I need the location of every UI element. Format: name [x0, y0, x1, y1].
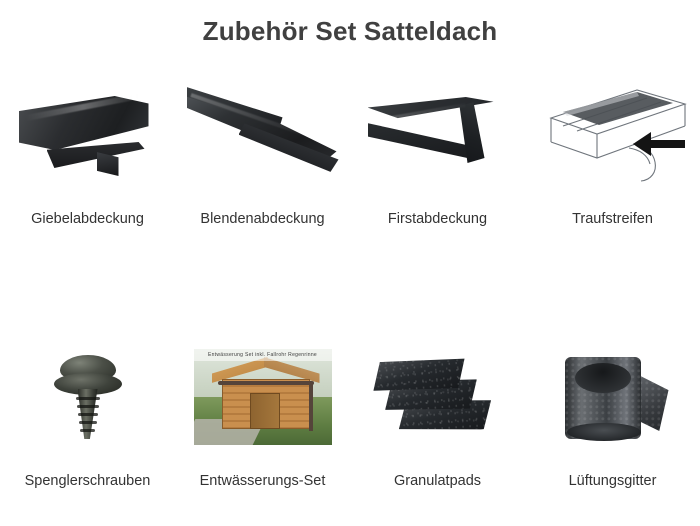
accessory-row-2: Spenglerschrauben Entwässerun	[0, 336, 700, 526]
accessory-item-blendenabdeckung[interactable]: Blendenabdeckung	[175, 74, 350, 264]
accessory-item-lueftungsgitter[interactable]: Lüftungsgitter	[525, 336, 700, 526]
accessory-caption: Entwässerungs-Set	[200, 474, 326, 490]
accessory-caption: Lüftungsgitter	[569, 474, 657, 490]
accessory-caption: Traufstreifen	[572, 212, 653, 228]
eaves-strip-icon	[525, 74, 700, 196]
fascia-trim-icon	[175, 74, 350, 196]
granulate-pad-icon	[350, 336, 525, 458]
roofing-screw-icon	[0, 336, 175, 458]
gable-trim-icon	[0, 74, 175, 196]
ventilation-grid-icon	[525, 336, 700, 458]
accessory-item-entwaesserungs-set[interactable]: Entwässerung Set inkl. Fallrohr Regenrin…	[175, 336, 350, 526]
accessory-caption: Blendenabdeckung	[200, 212, 324, 228]
accessory-caption: Spenglerschrauben	[25, 474, 151, 490]
accessory-caption: Firstabdeckung	[388, 212, 487, 228]
ridge-cap-icon	[350, 74, 525, 196]
accessory-item-spenglerschrauben[interactable]: Spenglerschrauben	[0, 336, 175, 526]
product-accessory-overview: Zubehör Set Satteldach Giebelabdeckung	[0, 0, 700, 525]
accessory-item-granulatpads[interactable]: Granulatpads	[350, 336, 525, 526]
accessory-caption: Giebelabdeckung	[31, 212, 144, 228]
accessory-item-giebelabdeckung[interactable]: Giebelabdeckung	[0, 74, 175, 264]
accessory-grid: Giebelabdeckung Blendenabdeckung	[0, 74, 700, 526]
accessory-row-1: Giebelabdeckung Blendenabdeckung	[0, 74, 700, 264]
accessory-caption: Granulatpads	[394, 474, 481, 490]
page-title: Zubehör Set Satteldach	[0, 16, 700, 47]
accessory-item-traufstreifen[interactable]: Traufstreifen	[525, 74, 700, 264]
drainage-set-icon: Entwässerung Set inkl. Fallrohr Regenrin…	[175, 336, 350, 458]
accessory-item-firstabdeckung[interactable]: Firstabdeckung	[350, 74, 525, 264]
photo-overlay-text: Entwässerung Set inkl. Fallrohr Regenrin…	[194, 349, 332, 361]
